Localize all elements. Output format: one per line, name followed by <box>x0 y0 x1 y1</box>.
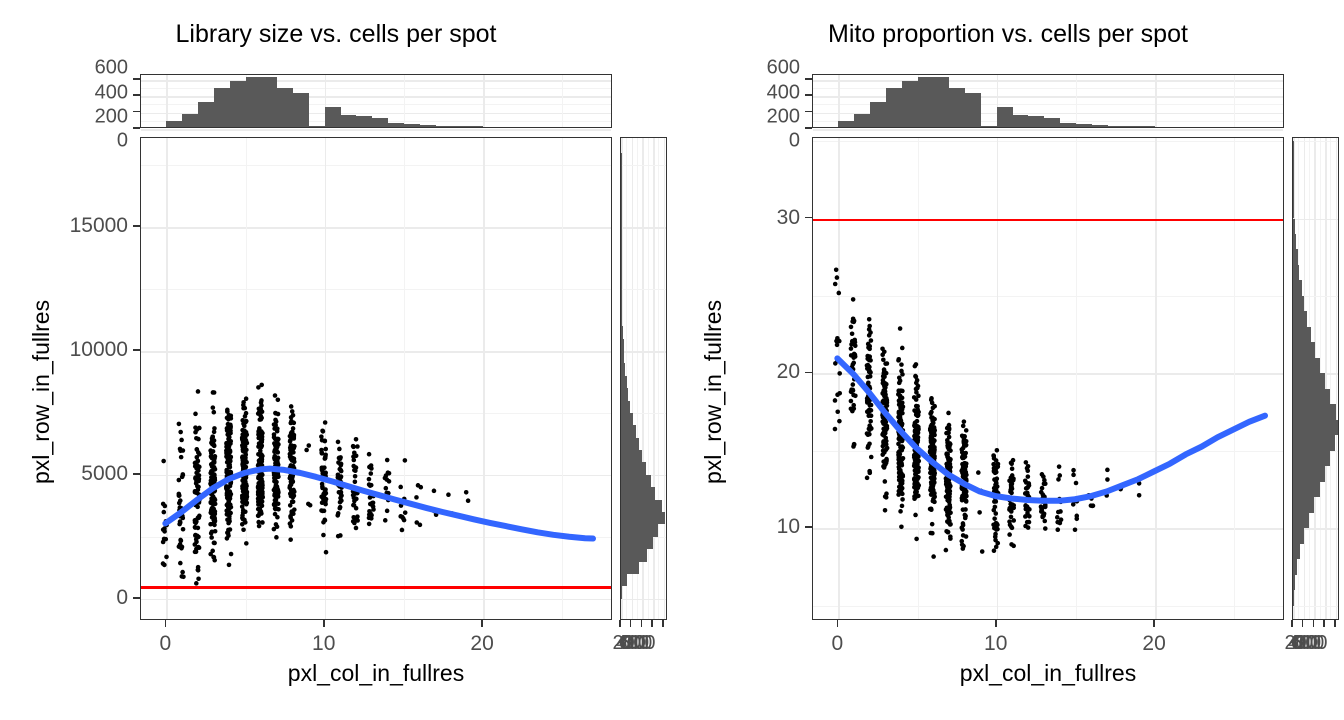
data-point <box>289 435 294 440</box>
data-point <box>897 381 902 386</box>
histogram-bar-right <box>621 240 622 252</box>
data-point <box>960 498 965 503</box>
data-point <box>177 478 182 483</box>
histogram-bar-right <box>1293 590 1294 605</box>
data-point <box>194 549 199 554</box>
data-point <box>289 509 294 514</box>
data-point <box>900 492 905 497</box>
data-point <box>880 347 885 352</box>
data-point <box>835 336 840 341</box>
top-marginal-histogram-mito-proportion <box>812 74 1284 128</box>
data-point <box>320 509 325 514</box>
gridline-right-hist <box>1330 138 1331 619</box>
histogram-bar-top <box>166 121 182 127</box>
data-point <box>290 518 295 523</box>
histogram-bar-right <box>621 202 622 214</box>
top-hist-y-tick-label: 600 <box>20 57 128 80</box>
histogram-bar-right <box>621 165 622 177</box>
histogram-bar-right <box>621 537 653 549</box>
histogram-bar-top <box>341 115 357 127</box>
data-point <box>883 385 888 390</box>
histogram-bar-right <box>621 462 646 474</box>
data-point <box>1026 485 1031 490</box>
data-point <box>367 452 372 457</box>
data-point <box>178 543 183 548</box>
data-point <box>258 417 263 422</box>
top-hist-y-tick-mark <box>133 78 140 80</box>
data-point <box>193 525 198 530</box>
data-point <box>181 527 186 532</box>
gridline-top-hist-v <box>1076 75 1077 127</box>
data-point <box>882 450 887 455</box>
data-point <box>992 516 997 521</box>
data-point <box>336 440 341 445</box>
data-point <box>259 439 264 444</box>
data-point <box>464 490 469 495</box>
data-point <box>178 520 183 525</box>
histogram-bar-right <box>621 500 662 512</box>
top-hist-y-tick-mark <box>805 78 812 80</box>
histogram-bar-right <box>621 227 622 239</box>
histogram-bar-right <box>621 487 655 499</box>
data-point <box>932 500 937 505</box>
data-point <box>226 499 231 504</box>
data-point <box>881 444 886 449</box>
top-hist-y-tick-mark <box>133 94 140 96</box>
data-point <box>194 471 199 476</box>
histogram-bar-top <box>838 121 854 127</box>
data-point <box>387 471 392 476</box>
data-point <box>960 527 965 532</box>
data-point <box>241 400 246 405</box>
data-point <box>212 476 217 481</box>
histogram-bar-right <box>621 450 642 462</box>
data-point <box>275 486 280 491</box>
data-point <box>1071 468 1076 473</box>
gridline-top-hist <box>813 96 1283 98</box>
data-point <box>896 392 901 397</box>
data-point <box>385 509 390 514</box>
top-hist-y-tick-label: 0 <box>692 130 800 153</box>
data-point <box>883 381 888 386</box>
histogram-bar-top <box>436 126 452 127</box>
data-point <box>196 568 201 573</box>
data-point <box>900 422 905 427</box>
data-point <box>929 398 934 403</box>
data-point <box>195 505 200 510</box>
top-hist-y-tick-label: 400 <box>20 81 128 104</box>
histogram-bar-right <box>1293 358 1320 373</box>
data-point <box>227 444 232 449</box>
y-tick-label: 30 <box>687 206 800 230</box>
data-point <box>896 357 901 362</box>
data-point <box>225 530 230 535</box>
data-point <box>1024 460 1029 465</box>
data-point <box>913 513 918 518</box>
data-point <box>243 406 248 411</box>
data-point <box>1040 506 1045 511</box>
right-hist-x-tick-mark <box>662 620 664 627</box>
data-point <box>1057 473 1062 478</box>
histogram-bar-right <box>621 339 624 351</box>
y-tick-mark <box>133 597 140 599</box>
data-point <box>899 362 904 367</box>
data-point <box>320 500 325 505</box>
data-point <box>161 459 166 464</box>
data-point <box>947 459 952 464</box>
histogram-bar-right <box>1293 311 1307 326</box>
data-point <box>851 403 856 408</box>
data-point <box>1007 478 1012 483</box>
gridline-right-hist <box>658 138 659 619</box>
top-hist-y-tick-label: 0 <box>20 130 128 153</box>
histogram-bar-right <box>1293 559 1297 574</box>
data-point <box>959 539 964 544</box>
data-point <box>947 446 952 451</box>
data-point <box>867 317 872 322</box>
data-point <box>929 507 934 512</box>
data-point <box>1026 474 1031 479</box>
data-point <box>899 484 904 489</box>
x-tick-mark <box>837 620 839 627</box>
data-point <box>209 535 214 540</box>
histogram-bar-right <box>1293 296 1304 311</box>
data-point <box>258 507 263 512</box>
data-point <box>851 297 856 302</box>
data-point <box>914 459 919 464</box>
data-point <box>1009 542 1014 547</box>
data-point <box>897 399 902 404</box>
data-point <box>178 561 183 566</box>
data-point <box>914 537 919 542</box>
histogram-bar-top <box>918 77 934 127</box>
histogram-bar-top <box>886 88 902 127</box>
data-point <box>227 458 232 463</box>
data-point <box>400 515 405 520</box>
data-point <box>351 503 356 508</box>
data-point <box>993 471 998 476</box>
histogram-bar-right <box>1293 482 1320 497</box>
data-point <box>866 375 871 380</box>
histogram-bar-right <box>621 388 628 400</box>
data-point <box>963 476 968 481</box>
data-point <box>1010 466 1015 471</box>
data-point <box>224 485 229 490</box>
data-point <box>210 529 215 534</box>
top-hist-y-tick-label: 200 <box>692 105 800 128</box>
histogram-bar-right <box>621 401 630 413</box>
data-point <box>1041 513 1046 518</box>
x-tick-label: 10 <box>312 632 335 656</box>
figure-root: Library size vs. cells per spot050001000… <box>0 0 1344 720</box>
data-point <box>242 465 247 470</box>
data-point <box>867 333 872 338</box>
x-tick-label: 0 <box>831 632 843 656</box>
data-point <box>276 397 281 402</box>
data-point <box>209 508 214 513</box>
data-point <box>291 488 296 493</box>
histogram-bar-right <box>1293 544 1300 559</box>
top-hist-y-tick-mark <box>133 127 140 129</box>
data-point <box>259 383 264 388</box>
data-point <box>900 497 905 502</box>
data-point <box>178 498 183 503</box>
data-point <box>323 487 328 492</box>
histogram-bar-right <box>621 215 622 227</box>
right-hist-x-tick-label: 800 <box>1294 632 1327 655</box>
data-point <box>260 486 265 491</box>
data-point <box>1009 484 1014 489</box>
histogram-bar-right <box>1293 420 1338 435</box>
data-point <box>273 479 278 484</box>
histogram-bar-right <box>1293 451 1330 466</box>
data-point <box>915 378 920 383</box>
data-point <box>964 464 969 469</box>
data-point <box>944 529 949 534</box>
data-point <box>900 448 905 453</box>
data-point <box>292 421 297 426</box>
data-point <box>337 447 342 452</box>
data-point <box>991 508 996 513</box>
data-point <box>1027 514 1032 519</box>
data-points <box>161 383 471 586</box>
data-point <box>257 524 262 529</box>
right-hist-x-tick-mark <box>1291 620 1293 627</box>
data-point <box>321 429 326 434</box>
histogram-bar-top <box>854 114 870 127</box>
data-point <box>994 481 999 486</box>
data-point <box>850 387 855 392</box>
data-point <box>1057 464 1062 469</box>
data-point <box>961 533 966 538</box>
data-point <box>964 443 969 448</box>
data-point <box>946 492 951 497</box>
histogram-bar-right <box>1293 280 1302 295</box>
data-point <box>915 484 920 489</box>
histogram-bar-top <box>293 93 309 127</box>
x-axis-title-mito-proportion: pxl_col_in_fullres <box>960 660 1136 687</box>
data-point <box>162 563 167 568</box>
data-point <box>288 476 293 481</box>
data-point <box>259 430 264 435</box>
data-point <box>867 469 872 474</box>
data-point <box>1043 526 1048 531</box>
data-point <box>369 483 374 488</box>
data-point <box>1040 486 1045 491</box>
data-point <box>960 434 965 439</box>
data-point <box>932 417 937 422</box>
data-point <box>226 432 231 437</box>
data-point <box>288 484 293 489</box>
data-point <box>289 430 294 435</box>
histogram-bar-top <box>1139 126 1155 127</box>
histogram-bar-right <box>621 178 622 190</box>
data-point <box>229 505 234 510</box>
data-point <box>323 420 328 425</box>
data-point <box>211 449 216 454</box>
x-tick-label: 20 <box>470 632 493 656</box>
data-point <box>178 447 183 452</box>
data-point <box>900 439 905 444</box>
histogram-bar-top <box>870 102 886 127</box>
data-point <box>163 504 168 509</box>
histogram-bar-top <box>277 88 293 127</box>
data-point <box>323 518 328 523</box>
gridline-right-hist-h <box>1293 606 1338 607</box>
data-point <box>899 457 904 462</box>
gridline-right-hist <box>664 138 666 619</box>
data-point <box>900 346 905 351</box>
data-point <box>993 485 998 490</box>
histogram-bar-right <box>621 363 625 375</box>
data-point <box>292 446 297 451</box>
histogram-bar-top <box>1123 126 1139 127</box>
histogram-bar-right <box>1293 435 1335 450</box>
top-marginal-histogram-library-size <box>140 74 612 128</box>
histogram-bar-top <box>997 107 1013 127</box>
data-point <box>336 511 341 516</box>
data-point <box>244 541 249 546</box>
data-point <box>885 446 890 451</box>
histogram-bar-top <box>467 126 483 127</box>
gridline-top-hist-v <box>1155 75 1157 127</box>
data-point <box>914 390 919 395</box>
histogram-bar-top <box>246 77 262 127</box>
histogram-bar-right <box>1293 466 1325 481</box>
data-point <box>883 494 888 499</box>
histogram-bar-right <box>621 475 651 487</box>
data-point <box>1074 481 1079 486</box>
data-point <box>193 476 198 481</box>
data-point <box>229 552 234 557</box>
data-point <box>193 412 198 417</box>
data-point <box>851 382 856 387</box>
x-tick-mark <box>165 620 167 627</box>
panel-figure-mito-proportion: Mito proportion vs. cells per spot102030… <box>672 0 1344 720</box>
data-point <box>851 361 856 366</box>
data-point <box>881 374 886 379</box>
y-tick-mark <box>133 349 140 351</box>
data-point <box>865 409 870 414</box>
data-point <box>995 527 1000 532</box>
histogram-bar-right <box>1293 389 1330 404</box>
data-point <box>837 291 842 296</box>
data-point <box>351 445 356 450</box>
data-point <box>290 409 295 414</box>
data-point <box>323 456 328 461</box>
data-point <box>163 537 168 542</box>
data-point <box>1027 520 1032 525</box>
data-point <box>881 357 886 362</box>
data-point <box>994 499 999 504</box>
data-point <box>1023 524 1028 529</box>
data-point <box>225 536 230 541</box>
data-point <box>930 451 935 456</box>
data-point <box>947 423 952 428</box>
data-point <box>240 435 245 440</box>
data-point <box>945 455 950 460</box>
histogram-bar-right <box>1293 141 1294 156</box>
data-point <box>1074 517 1079 522</box>
data-point <box>961 523 966 528</box>
data-point <box>209 469 214 474</box>
data-point <box>323 447 328 452</box>
y-axis-title-library-size: pxl_row_in_fullres <box>28 299 55 483</box>
panel-figure-library-size: Library size vs. cells per spot050001000… <box>0 0 672 720</box>
right-hist-x-tick-mark <box>1323 620 1325 627</box>
data-point <box>306 443 311 448</box>
data-point <box>865 476 870 481</box>
histogram-bar-right <box>621 512 665 524</box>
histogram-bar-right <box>1293 157 1294 172</box>
data-point <box>242 459 247 464</box>
gridline-top-hist <box>813 88 1283 89</box>
histogram-bar-right <box>621 326 623 338</box>
top-hist-y-tick-mark <box>133 111 140 113</box>
data-point <box>227 471 232 476</box>
data-point <box>195 463 200 468</box>
gridline-top-hist-v <box>562 75 563 127</box>
data-point <box>324 550 329 555</box>
data-point <box>930 422 935 427</box>
data-point <box>899 369 904 374</box>
top-hist-y-tick-label: 400 <box>692 81 800 104</box>
data-point <box>932 470 937 475</box>
data-point <box>900 389 905 394</box>
x-tick-label: 10 <box>984 632 1007 656</box>
data-point <box>898 326 903 331</box>
data-point <box>338 500 343 505</box>
data-point <box>914 491 919 496</box>
data-point <box>212 558 217 563</box>
data-point <box>225 416 230 421</box>
top-hist-y-tick-mark <box>805 127 812 129</box>
data-point <box>288 537 293 542</box>
histogram-bar-right <box>621 413 633 425</box>
y-tick-mark <box>133 473 140 475</box>
data-point <box>432 489 437 494</box>
data-point <box>322 465 327 470</box>
data-point <box>948 442 953 447</box>
data-point <box>962 454 967 459</box>
histogram-bar-top <box>372 118 388 127</box>
data-point <box>948 534 953 539</box>
data-point <box>834 268 839 273</box>
data-point <box>963 514 968 519</box>
gridline-right-hist-h <box>621 165 666 166</box>
data-point <box>192 542 197 547</box>
data-point <box>961 544 966 549</box>
gridline-right-hist-h <box>621 351 666 353</box>
data-point <box>371 500 376 505</box>
y-tick-mark <box>805 217 812 219</box>
data-point <box>368 511 373 516</box>
data-point <box>273 498 278 503</box>
data-point <box>1039 490 1044 495</box>
data-point <box>196 576 201 581</box>
data-point <box>273 418 278 423</box>
data-point <box>403 458 408 463</box>
data-point <box>292 457 297 462</box>
gridline-right-hist-h <box>1293 141 1338 142</box>
data-point <box>993 538 998 543</box>
top-hist-y-tick-mark <box>805 111 812 113</box>
histogram-bar-right <box>621 549 647 561</box>
histogram-bar-top <box>451 126 467 127</box>
data-point <box>929 475 934 480</box>
data-point <box>885 361 890 366</box>
data-point <box>211 502 216 507</box>
